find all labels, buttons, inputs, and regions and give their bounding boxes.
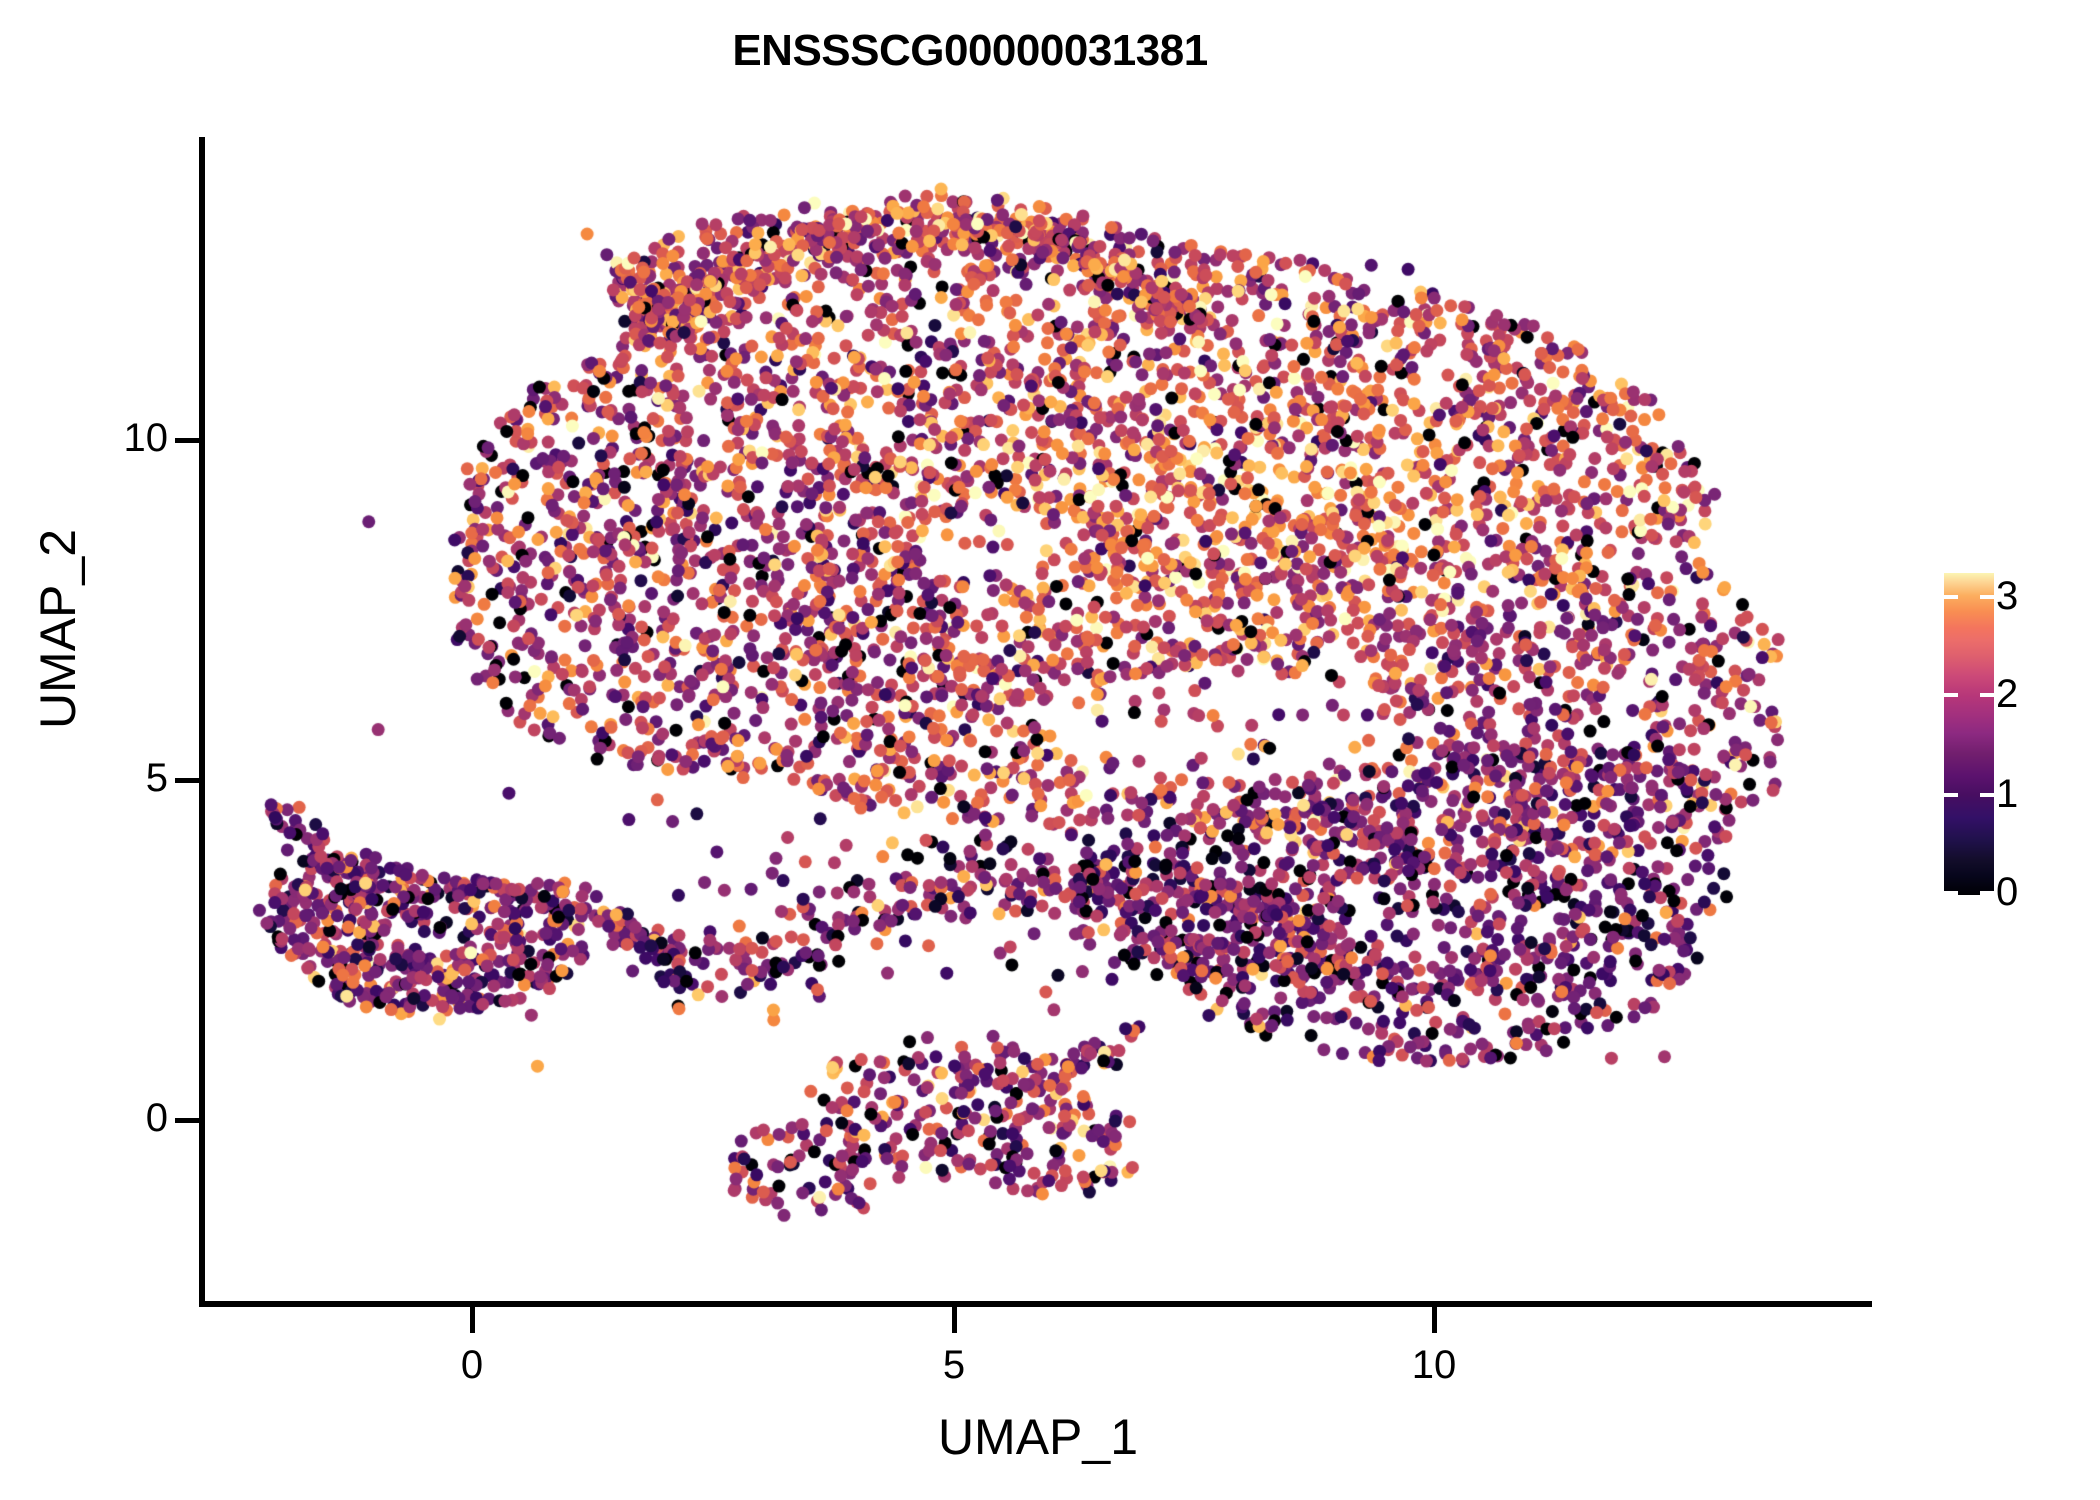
colorbar-tick-0-left [1944, 891, 1958, 895]
page-title: ENSSSCG00000031381 [0, 26, 1940, 76]
y-tick-label-5: 5 [146, 758, 168, 798]
y-tick-label-10: 10 [124, 418, 169, 458]
colorbar-label-0: 0 [1996, 872, 2018, 912]
x-tick-label-10: 10 [1374, 1345, 1494, 1385]
colorbar-label-3: 3 [1996, 576, 2018, 616]
x-tick-mark-5 [952, 1307, 957, 1333]
x-tick-mark-0 [470, 1307, 475, 1333]
y-tick-label-0: 0 [146, 1098, 168, 1138]
x-axis-title: UMAP_1 [204, 1408, 1872, 1466]
colorbar-tick-2-right [1980, 693, 1994, 697]
x-axis-line [199, 1301, 1872, 1307]
colorbar-tick-2-left [1944, 693, 1958, 697]
colorbar-tick-1-left [1944, 793, 1958, 797]
x-tick-label-5: 5 [894, 1345, 1014, 1385]
colorbar-legend [1944, 573, 1994, 895]
colorbar-label-2: 2 [1996, 674, 2018, 714]
colorbar-tick-3-left [1944, 595, 1958, 599]
colorbar-gradient [1944, 573, 1994, 895]
x-tick-mark-10 [1432, 1307, 1437, 1333]
y-axis-line [199, 137, 205, 1307]
y-tick-mark-0 [175, 1118, 201, 1123]
y-axis-title: UMAP_2 [29, 419, 87, 839]
x-tick-label-0: 0 [412, 1345, 532, 1385]
scatter-points-layer [204, 137, 1872, 1305]
y-tick-mark-10 [175, 438, 201, 443]
colorbar-label-1: 1 [1996, 774, 2018, 814]
colorbar-tick-1-right [1980, 793, 1994, 797]
y-tick-mark-5 [175, 778, 201, 783]
colorbar-tick-3-right [1980, 595, 1994, 599]
colorbar-tick-0-right [1980, 891, 1994, 895]
scatter-plot-panel [204, 137, 1872, 1305]
